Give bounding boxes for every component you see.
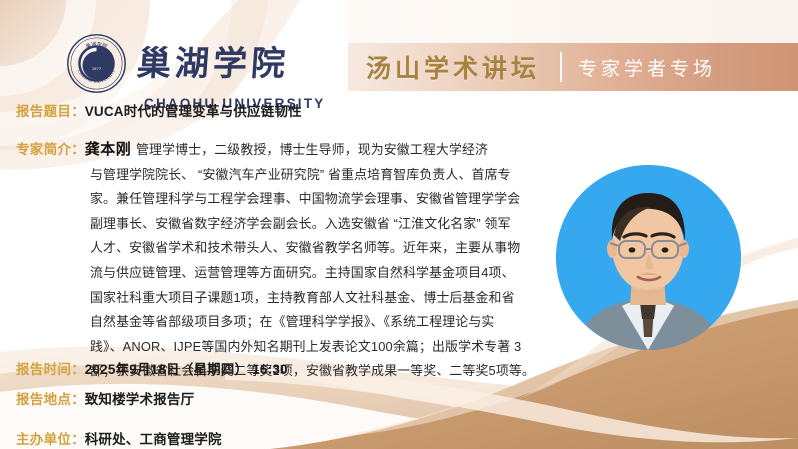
bio-line: 国家社科重大项目子课题1项，主持教育部人文社科基金、博士后基金和省 — [90, 286, 540, 311]
report-title-colon: ： — [71, 100, 85, 120]
bio-line: 家。兼任管理科学与工程学会理事、中国物流学会理事、安徽省管理学学会 — [90, 187, 540, 212]
report-time-colon: ： — [71, 358, 85, 378]
report-title-label: 报告题目 — [16, 100, 71, 120]
speaker-bio-colon: ： — [71, 138, 85, 158]
speaker-bio-label: 专家简介 — [16, 138, 71, 158]
poster-canvas: 1977 巢湖学院 CHAOHU UNIVERSITY 巢湖学院 CHAOHU … — [0, 0, 798, 449]
organizer-row: 主办单位 ： 科研处、工商管理学院 — [16, 428, 222, 448]
report-title-value: VUCA时代的管理变革与供应链韧性 — [85, 100, 302, 120]
bio-line: 践》、ANOR、IJPE等国内外知名期刊上发表论文100余篇；出版学术专著 3 — [90, 335, 540, 360]
bio-line: 自然基金等省部级项目多项；在《管理科学学报》、《系统工程理论与实 — [90, 310, 540, 335]
report-place-value: 致知楼学术报告厅 — [85, 388, 195, 408]
report-time-value: 2025年9月18日（星期四） 16:30 — [85, 358, 288, 378]
poster-content: 报告题目 ： VUCA时代的管理变革与供应链韧性 专家简介 ： 龚本刚 管理学博… — [0, 0, 798, 449]
bio-line: 管理学博士，二级教授，博士生导师，现为安徽工程大学经济 — [90, 138, 540, 163]
bio-line: 人才、安徽省学术和技术带头人、安徽省教学名师等。近年来，主要从事物 — [90, 236, 540, 261]
organizer-label: 主办单位 — [16, 428, 71, 448]
speaker-bio-paragraph: 管理学博士，二级教授，博士生导师，现为安徽工程大学经济 与管理学院院长、 “安徽… — [90, 138, 540, 384]
report-place-label: 报告地点 — [16, 388, 71, 408]
report-title-row: 报告题目 ： VUCA时代的管理变革与供应链韧性 — [16, 100, 302, 120]
bio-line: 与管理学院院长、 “安徽汽车产业研究院” 省重点培育智库负责人、首席专 — [90, 163, 540, 188]
report-place-row: 报告地点 ： 致知楼学术报告厅 — [16, 388, 194, 408]
report-place-colon: ： — [71, 388, 85, 408]
report-time-label: 报告时间 — [16, 358, 71, 378]
bio-line: 副理事长、安徽省数字经济学会副会长。入选安徽省 “江淮文化名家” 领军 — [90, 212, 540, 237]
report-time-row: 报告时间 ： 2025年9月18日（星期四） 16:30 — [16, 358, 288, 378]
organizer-colon: ： — [71, 428, 85, 448]
organizer-value: 科研处、工商管理学院 — [85, 428, 222, 448]
bio-line: 流与供应链管理、运营管理等方面研究。主持国家自然科学基金项目4项、 — [90, 261, 540, 286]
